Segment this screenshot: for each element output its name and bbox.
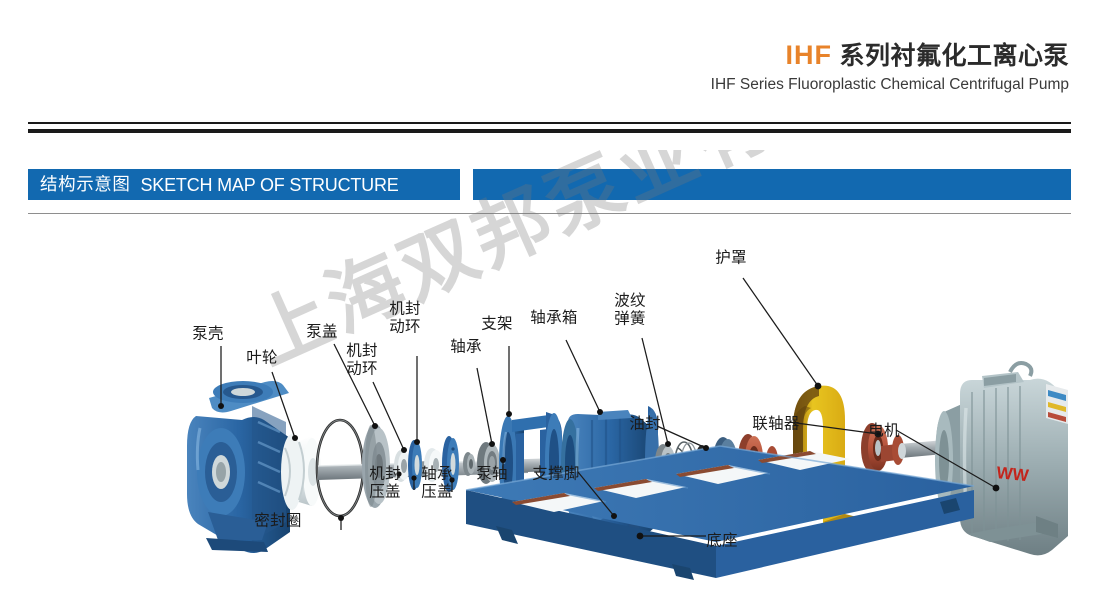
header-rule-thin	[28, 122, 1071, 124]
section-header-bar: 结构示意图 SKETCH MAP OF STRUCTURE	[28, 169, 460, 200]
section-title-en: SKETCH MAP OF STRUCTURE	[141, 176, 399, 194]
header-rule-thick	[28, 129, 1071, 133]
diagram-label-base: 底座	[706, 532, 738, 550]
section-rule-bottom	[28, 213, 1071, 214]
diagram-label-mech-seal-gland: 机封 压盖	[369, 466, 401, 501]
diagram-label-pump-shaft: 泵轴	[476, 465, 508, 483]
section-title-cn: 结构示意图	[40, 176, 131, 194]
diagram-label-bearing-housing: 轴承箱	[530, 309, 577, 327]
motor-badge-ww: WW	[996, 463, 1031, 485]
page-title-cn: IHF 系列衬氟化工离心泵	[711, 40, 1069, 71]
diagram-label-bearing: 轴承	[450, 338, 482, 356]
page-header: IHF 系列衬氟化工离心泵 IHF Series Fluoroplastic C…	[711, 40, 1069, 96]
component-mech-seal-gland	[408, 440, 422, 490]
diagram-label-bracket: 支架	[481, 315, 513, 333]
brand-ihf: IHF	[786, 40, 833, 70]
diagram-label-oil-seal: 油封	[629, 415, 661, 433]
diagram-label-pump-cover: 泵盖	[306, 323, 338, 341]
page-title-en: IHF Series Fluoroplastic Chemical Centri…	[711, 74, 1069, 96]
diagram-label-support-foot: 支撑脚	[532, 465, 579, 483]
diagram-label-bearing-gland: 轴承 压盖	[421, 466, 453, 501]
diagram-label-mech-seal-ring-1: 机封 动环	[346, 343, 378, 378]
diagram-label-wave-spring: 波纹 弹簧	[614, 293, 646, 328]
diagram-label-impeller: 叶轮	[246, 349, 278, 367]
page-title-cn-rest: 系列衬氟化工离心泵	[832, 42, 1069, 70]
diagram-label-motor: 电机	[868, 422, 900, 440]
diagram-label-coupling: 联轴器	[752, 415, 799, 433]
exploded-view-diagram: WW	[0, 216, 1097, 598]
diagram-label-pump-casing: 泵壳	[192, 325, 224, 343]
component-impeller	[281, 434, 321, 510]
section-header-bar-fill	[473, 169, 1071, 200]
diagram-label-guard: 护罩	[715, 249, 747, 267]
diagram-label-seal-ring: 密封圈	[254, 512, 301, 530]
diagram-label-mech-seal-ring-2: 机封 动环	[389, 301, 421, 336]
